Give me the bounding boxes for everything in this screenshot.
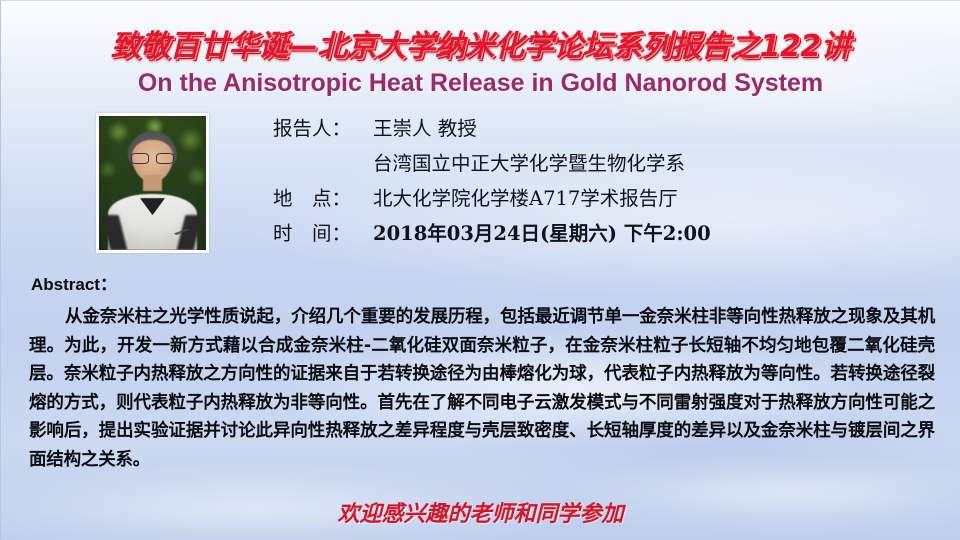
poster-title-chinese: 致敬百廿华诞—北京大学纳米化学论坛系列报告之122讲 <box>1 21 960 65</box>
info-row-venue: 地 点： 北大化学院化学楼A717学术报告厅 <box>273 189 711 224</box>
speaker-photo-frame <box>96 113 209 253</box>
abstract-body: 从金奈米柱之光学性质说起，介绍几个重要的发展历程，包括最近调节单一金奈米柱非等向… <box>29 303 935 475</box>
poster-footer-invitation: 欢迎感兴趣的老师和同学参加 <box>1 496 960 528</box>
poster-title-english: On the Anisotropic Heat Release in Gold … <box>1 69 960 98</box>
time-label: 时 间： <box>273 224 373 244</box>
photo-vignette <box>99 116 206 250</box>
speaker-label: 报告人： <box>273 119 373 139</box>
info-row-affiliation: 台湾国立中正大学化学暨生物化学系 <box>273 154 711 189</box>
speaker-photo <box>99 116 206 250</box>
venue-value: 北大化学院化学楼A717学术报告厅 <box>373 189 678 209</box>
seminar-info-block: 报告人： 王崇人 教授 台湾国立中正大学化学暨生物化学系 地 点： 北大化学院化… <box>273 119 711 259</box>
info-row-speaker: 报告人： 王崇人 教授 <box>273 119 711 154</box>
venue-label: 地 点： <box>273 189 373 209</box>
info-row-time: 时 间： 2018年03月24日(星期六) 下午2:00 <box>273 224 711 259</box>
abstract-label: Abstract： <box>31 270 117 295</box>
time-value: 2018年03月24日(星期六) 下午2:00 <box>373 224 711 244</box>
speaker-name: 王崇人 教授 <box>373 119 477 139</box>
speaker-affiliation: 台湾国立中正大学化学暨生物化学系 <box>373 154 685 174</box>
seminar-poster: 致敬百廿华诞—北京大学纳米化学论坛系列报告之122讲 On the Anisot… <box>0 0 960 540</box>
